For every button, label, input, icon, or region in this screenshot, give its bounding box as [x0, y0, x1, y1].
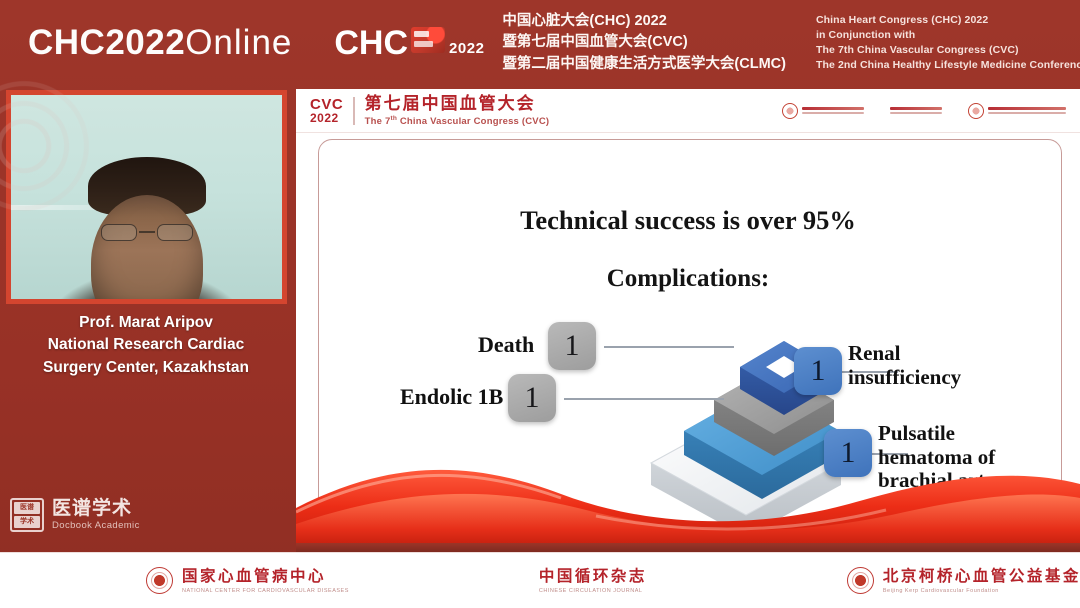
- badge-death: 1: [548, 322, 596, 370]
- banner-en-line-3: The 7th China Vascular Congress (CVC): [816, 43, 1080, 58]
- footer-logo-bkcf: 北京柯桥心血管公益基金会 Beijing Kerp Cardiovascular…: [847, 567, 1080, 594]
- cvc-title-en-prefix: The 7: [365, 116, 391, 127]
- docbook-text: 医谱学术 Docbook Academic: [52, 499, 140, 532]
- docbook-mark-top: 医谱: [14, 502, 40, 514]
- banner-cn-line-3: 暨第二届中国健康生活方式医学大会(CLMC): [502, 54, 786, 75]
- cvc-title-chinese: 第七届中国血管大会: [365, 94, 550, 114]
- docbook-english: Docbook Academic: [52, 520, 140, 531]
- ncc-name-chinese: 国家心血管病中心: [182, 568, 326, 585]
- speaker-affiliation-line-2: Surgery Center, Kazakhstan: [0, 357, 292, 379]
- cvc-divider: [353, 97, 355, 125]
- cvc-badge: CVC 2022: [310, 97, 343, 125]
- speaker-caption: Prof. Marat Aripov National Research Car…: [0, 312, 292, 379]
- connector-death: [604, 346, 734, 348]
- banner-en-line-2: in Conjunction with: [816, 28, 1080, 43]
- docbook-chinese: 医谱学术: [52, 499, 140, 520]
- ncc-seal-icon: [146, 567, 173, 594]
- chc-logo-word: CHC: [334, 27, 408, 59]
- ncc-name-english: NATIONAL CENTER FOR CARDIOVASCULAR DISEA…: [182, 588, 349, 594]
- slide-bottom-bar: [296, 543, 1080, 552]
- cvc-title: 第七届中国血管大会 The 7th China Vascular Congres…: [365, 94, 550, 128]
- bkcf-seal-icon: [847, 567, 874, 594]
- footer-logo-bar: 国家心血管病中心 NATIONAL CENTER FOR CARDIOVASCU…: [0, 552, 1080, 608]
- banner-english-titles: China Heart Congress (CHC) 2022 in Conju…: [816, 13, 1080, 73]
- brand-primary: CHC2022: [28, 23, 185, 62]
- chc-logo-year: 2022: [449, 40, 484, 57]
- speaker-affiliation-line-1: National Research Cardiac: [0, 334, 292, 356]
- label-death: Death: [478, 333, 534, 358]
- presentation-slide[interactable]: CVC 2022 第七届中国血管大会 The 7th China Vascula…: [296, 89, 1080, 552]
- mini-logo-ncc-icon: [782, 103, 864, 119]
- slide-header: CVC 2022 第七届中国血管大会 The 7th China Vascula…: [296, 89, 1080, 133]
- speaker-video-panel[interactable]: [0, 86, 292, 308]
- docbook-watermark: 医谱 学术 医谱学术 Docbook Academic: [10, 498, 140, 532]
- bkcf-name-english: Beijing Kerp Cardiovascular Foundation: [883, 588, 1080, 594]
- label-endolic: Endolic 1B: [400, 385, 503, 410]
- badge-endolic: 1: [508, 374, 556, 422]
- cvc-title-english: The 7th China Vascular Congress (CVC): [365, 115, 550, 127]
- chc-logo: CHC 2022: [334, 27, 484, 59]
- docbook-logo-icon: 医谱 学术: [10, 498, 44, 532]
- slide-header-logos: [782, 103, 1066, 119]
- banner-en-line-4: The 2nd China Healthy Lifestyle Medicine…: [816, 58, 1080, 73]
- footer-logo-ncc: 国家心血管病中心 NATIONAL CENTER FOR CARDIOVASCU…: [146, 567, 349, 594]
- mini-logo-bkcf-icon: [968, 103, 1066, 119]
- brand-title: CHC2022Online: [28, 23, 292, 63]
- label-renal-line-1: Renal: [848, 342, 961, 366]
- red-ribbon-decoration: [296, 432, 1080, 552]
- glasses-icon: [99, 224, 195, 241]
- cvc-badge-name: CVC: [310, 97, 343, 112]
- label-renal-line-2: insufficiency: [848, 366, 961, 390]
- bkcf-name-chinese: 北京柯桥心血管公益基金会: [883, 568, 1080, 585]
- ccj-name-english: CHINESE CIRCULATION JOURNAL: [539, 588, 647, 594]
- cvc-badge-year: 2022: [310, 112, 343, 124]
- badge-renal: 1: [794, 347, 842, 395]
- event-banner: CHC2022Online CHC 2022 中国心脏大会(CHC) 2022 …: [0, 0, 1080, 86]
- connector-endolic: [564, 398, 724, 400]
- docbook-mark-bottom: 学术: [14, 516, 40, 528]
- cvc-title-en-suffix: China Vascular Congress (CVC): [397, 116, 549, 127]
- banner-cn-line-2: 暨第七届中国血管大会(CVC): [502, 32, 786, 53]
- speaker-name: Prof. Marat Aripov: [0, 312, 292, 334]
- footer-logo-ccj: 中国循环杂志 CHINESE CIRCULATION JOURNAL: [539, 568, 647, 594]
- brand-secondary: Online: [185, 23, 292, 62]
- broadcast-stage: CHC2022Online CHC 2022 中国心脏大会(CHC) 2022 …: [0, 0, 1080, 608]
- ccj-name-chinese: 中国循环杂志: [539, 568, 647, 585]
- mini-logo-ccj-icon: [890, 107, 942, 114]
- slide-body: Technical success is over 95% Complicati…: [296, 133, 1080, 552]
- chc-heart-emblem-icon: [411, 27, 445, 53]
- banner-en-line-1: China Heart Congress (CHC) 2022: [816, 13, 1080, 28]
- banner-cn-line-1: 中国心脏大会(CHC) 2022: [502, 11, 786, 32]
- banner-chinese-titles: 中国心脏大会(CHC) 2022 暨第七届中国血管大会(CVC) 暨第二届中国健…: [502, 11, 786, 74]
- label-renal: Renal insufficiency: [848, 342, 961, 389]
